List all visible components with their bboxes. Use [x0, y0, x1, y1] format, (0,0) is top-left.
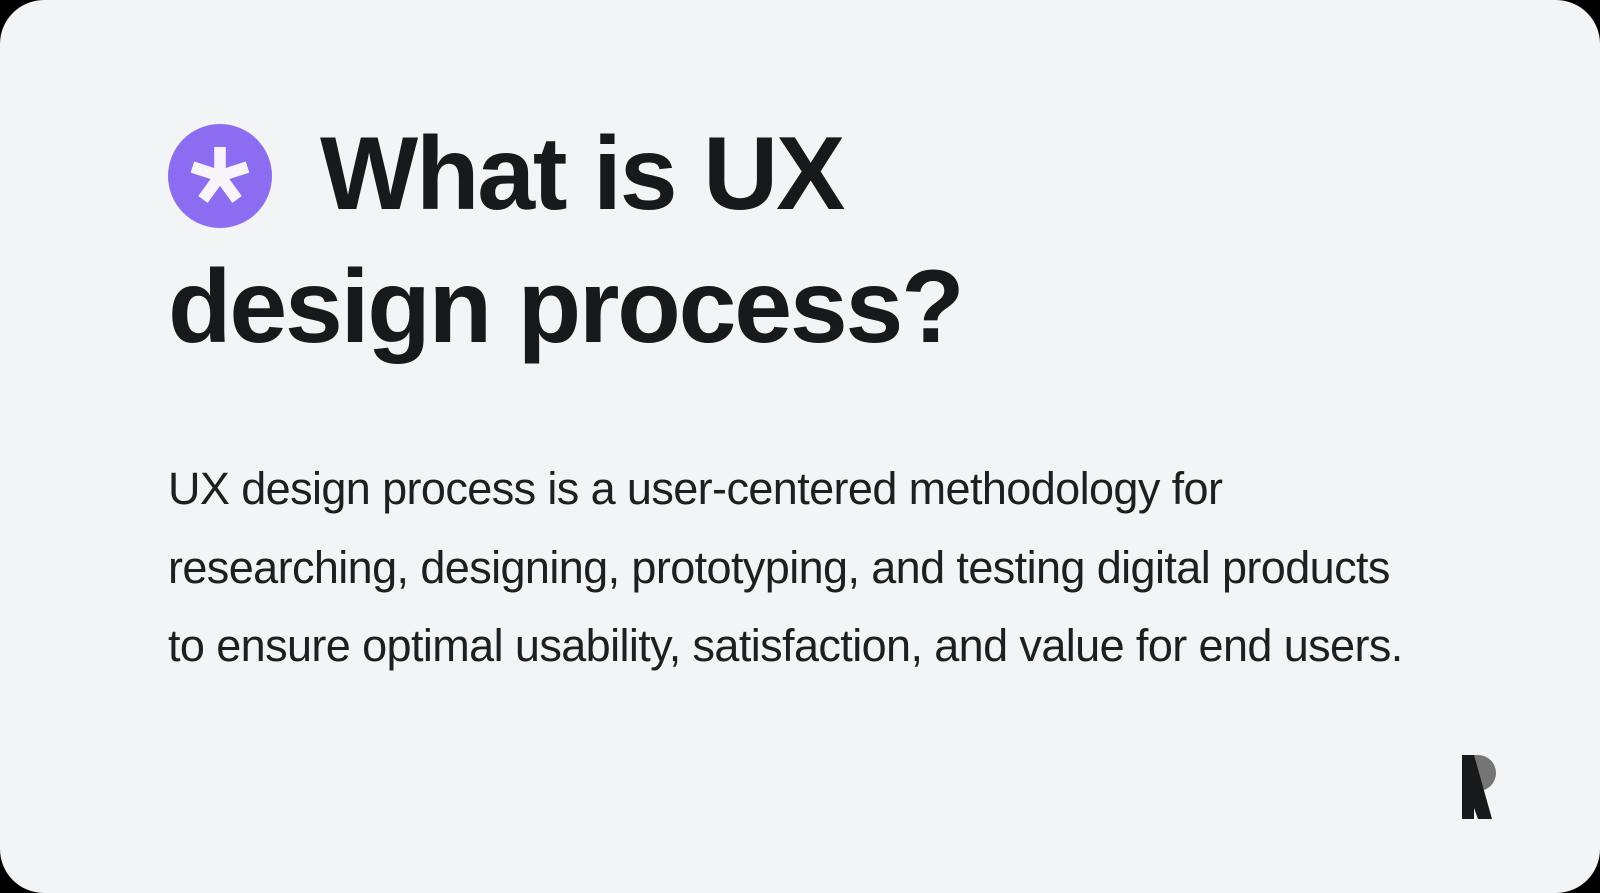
headline-block: What is UX design process? — [168, 108, 1178, 374]
asterisk-badge — [168, 124, 272, 228]
body-paragraph: UX design process is a user-centered met… — [168, 450, 1413, 685]
r-monogram-icon — [1458, 755, 1504, 819]
asterisk-icon — [190, 145, 250, 207]
page-title: What is UX design process? — [168, 108, 1178, 374]
brand-logo — [1458, 755, 1504, 819]
content-card: What is UX design process? UX design pro… — [0, 0, 1600, 893]
card-content: What is UX design process? UX design pro… — [0, 0, 1600, 893]
